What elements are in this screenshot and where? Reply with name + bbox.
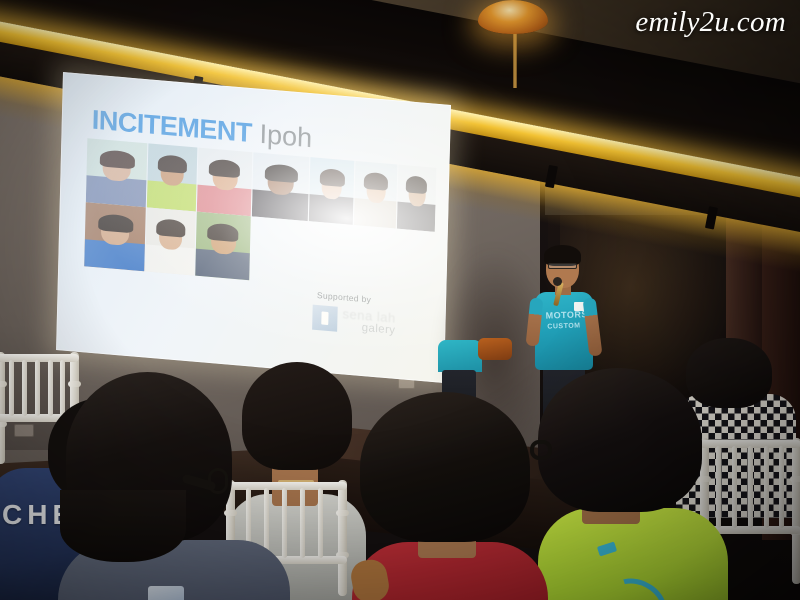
collage-photo — [197, 148, 253, 217]
chair-spindle — [318, 488, 323, 558]
photo-collage — [84, 138, 437, 296]
collage-photo-hair — [265, 163, 298, 183]
collage-photo — [86, 138, 148, 207]
chair-post — [338, 480, 347, 596]
attendee-grey-shirt-glasses — [48, 372, 292, 600]
attendee-red-hair — [360, 392, 530, 542]
microphone-icon — [553, 277, 562, 286]
chair-spindle — [764, 446, 769, 528]
attendee-grey-nape — [60, 490, 186, 562]
collage-photo-hair — [209, 159, 240, 179]
collage-photo — [145, 207, 196, 275]
collage-photo-hair — [98, 213, 133, 233]
collage-photo-hair — [364, 172, 388, 191]
bystander-torso — [438, 340, 482, 372]
watermark: emily2u.com — [635, 6, 786, 39]
chair-spindle — [748, 446, 753, 528]
speaker-glasses-icon — [548, 263, 577, 269]
chair-spindle — [732, 446, 737, 528]
attendee-neon-hair — [538, 368, 702, 512]
chair-spindle — [300, 488, 305, 558]
attendee-grey-glasses-lens-icon — [208, 468, 228, 494]
slide-city-name: Ipoh — [259, 119, 312, 153]
attendee-neon-green-shirt — [538, 368, 728, 600]
event-photo-scene: INCITEMENT Ipoh Supported by sena lah ga… — [0, 0, 800, 600]
pendant-lamp-icon — [478, 0, 548, 34]
collage-photo-hair — [406, 175, 427, 194]
collage-photo — [195, 212, 251, 281]
collage-photo — [354, 161, 398, 229]
chair-spindle — [779, 446, 784, 528]
collage-photo — [252, 152, 310, 221]
collage-photo-hair — [207, 223, 238, 243]
collage-photo — [84, 202, 146, 271]
collage-photo-hair — [158, 154, 187, 173]
chair-post — [792, 438, 800, 584]
sponsor-logo: sena lah galery — [312, 305, 396, 338]
attendee-red-shirt — [352, 392, 548, 600]
collage-photo — [397, 165, 437, 232]
collage-photo-hair — [320, 168, 345, 187]
speaker-shirt-print: MOTORS CUSTOM — [545, 309, 582, 344]
bystander-orange-sleeve — [478, 338, 512, 360]
collage-photo — [147, 143, 198, 211]
supported-by-label: Supported by — [313, 290, 396, 307]
collage-photo-hair — [100, 149, 135, 169]
sponsor-logo-mark-icon — [312, 305, 338, 332]
sponsor-block: Supported by sena lah galery — [312, 290, 396, 338]
collage-photo — [309, 157, 355, 225]
collage-photo-hair — [156, 218, 185, 237]
sponsor-logo-text: sena lah galery — [342, 307, 396, 337]
projection-screen: INCITEMENT Ipoh Supported by sena lah ga… — [56, 72, 451, 383]
attendee-grey-shirt-logo — [148, 586, 184, 600]
